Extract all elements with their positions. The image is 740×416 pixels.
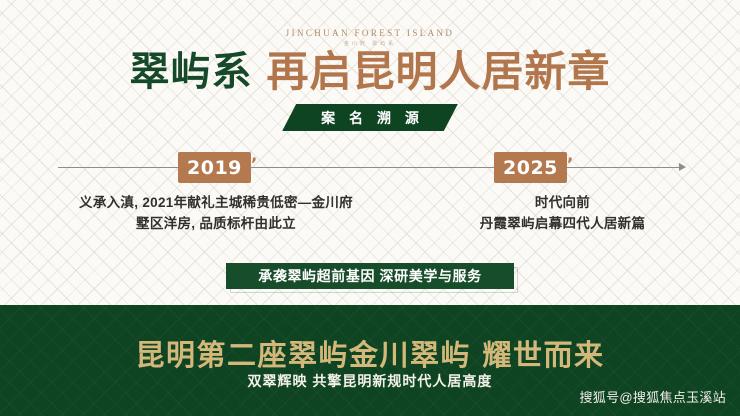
- timeline-year-tag-2019: 2019 ’: [178, 152, 251, 183]
- brand-mark: JINCHUAN FOREST ISLAND 金川府 翠屿系: [0, 28, 740, 47]
- title-main-label: 再启昆明人居新章: [266, 47, 610, 96]
- timeline-copy-line-2: 墅区洋房, 品质标杆由此立: [46, 213, 386, 234]
- footer-headline: 昆明第二座翠屿金川翠屿 耀世而来: [0, 332, 740, 374]
- page-title: 翠屿系再启昆明人居新章: [0, 48, 740, 96]
- timeline-copy-line-1: 义承入滇, 2021年献礼主城稀贵低密—金川府: [46, 192, 386, 213]
- title-series-label: 翠屿系: [129, 48, 252, 95]
- arrow-right-icon: [679, 163, 686, 171]
- footer-panel: 昆明第二座翠屿金川翠屿 耀世而来 双翠辉映 共擎昆明新规时代人居高度 搜狐号@搜…: [0, 305, 740, 416]
- timeline-year-label: 2025: [503, 157, 558, 179]
- watermark: 搜狐号@搜狐焦点玉溪站: [580, 387, 727, 406]
- slogan-bar: 承袭翠屿超前基因 深研美学与服务: [226, 263, 514, 289]
- brand-chinese-name: 金川府 翠屿系: [0, 40, 740, 47]
- timeline-year-label: 2019: [187, 157, 242, 179]
- brand-english-name: JINCHUAN FOREST ISLAND: [0, 28, 740, 38]
- timeline-year-tag-2025: 2025 ’: [494, 152, 567, 183]
- timeline-copy-line-2: 丹霞翠屿启幕四代人居新篇: [420, 213, 705, 234]
- timeline-copy-line-1: 时代向前: [420, 192, 705, 213]
- section-badge: 案 名 溯 源: [282, 104, 458, 131]
- timeline-copy-2025: 时代向前 丹霞翠屿启幕四代人居新篇: [420, 192, 705, 234]
- timeline-year-tick: ’: [567, 155, 574, 175]
- slogan-bar-label: 承袭翠屿超前基因 深研美学与服务: [258, 266, 482, 286]
- timeline-copy-2019: 义承入滇, 2021年献礼主城稀贵低密—金川府 墅区洋房, 品质标杆由此立: [46, 192, 386, 234]
- timeline-year-tick: ’: [251, 155, 258, 175]
- section-badge-label: 案 名 溯 源: [316, 108, 424, 128]
- promo-poster: JINCHUAN FOREST ISLAND 金川府 翠屿系 翠屿系再启昆明人居…: [0, 0, 740, 416]
- timeline-axis: [58, 167, 684, 168]
